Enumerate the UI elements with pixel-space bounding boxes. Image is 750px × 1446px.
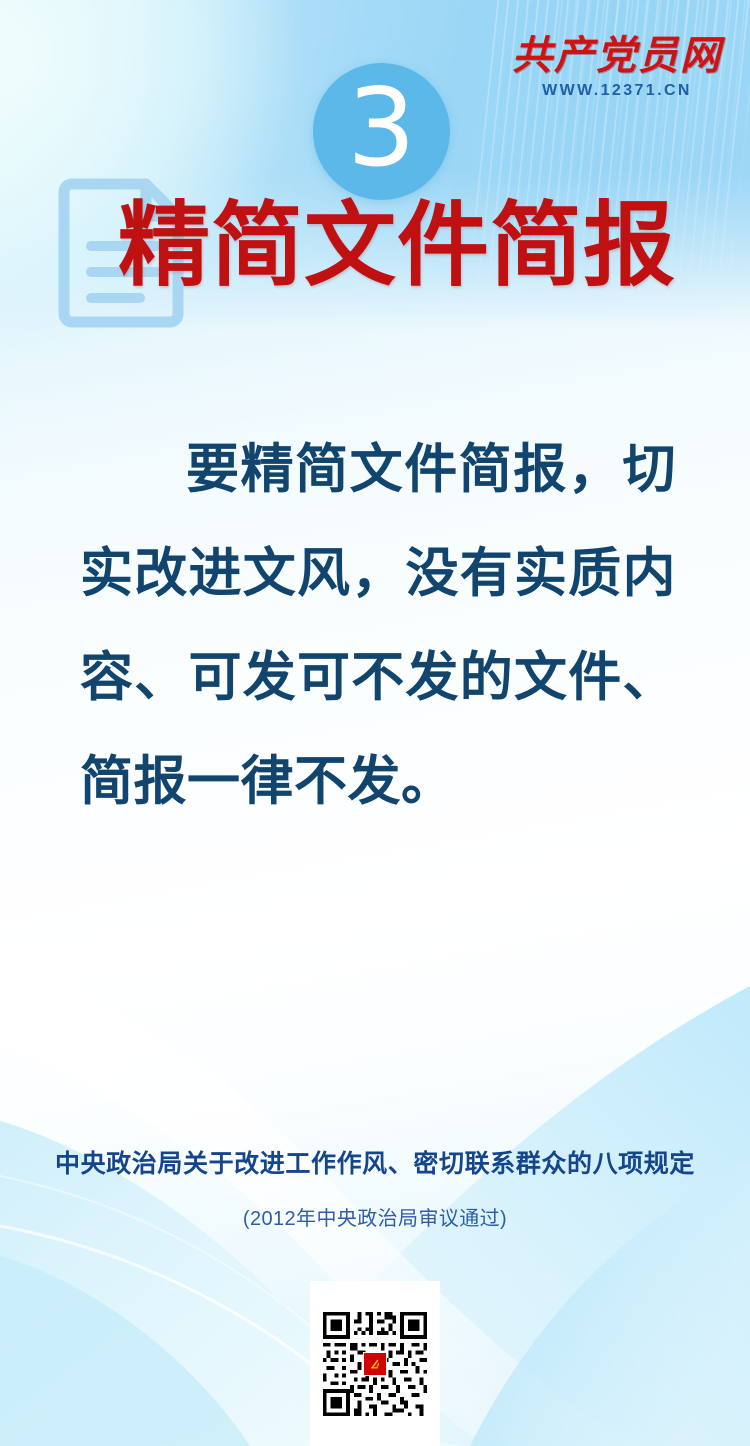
footer-subtitle: (2012年中央政治局审议通过): [0, 1202, 750, 1231]
footer: 中央政治局关于改进工作作风、密切联系群众的八项规定 (2012年中央政治局审议通…: [0, 1150, 750, 1231]
qr-code[interactable]: [310, 1281, 440, 1446]
page-title: 精简文件简报: [118, 196, 676, 297]
party-emblem-icon: [363, 1352, 387, 1376]
body-paragraph: 要精简文件简报，切实改进文风，没有实质内容、可发可不发的文件、简报一律不发。: [80, 418, 676, 834]
number-badge: 3: [313, 63, 450, 200]
site-logo-url: WWW.12371.CN: [508, 83, 726, 99]
site-logo[interactable]: 共产党员网 WWW.12371.CN: [508, 36, 726, 99]
number-badge-value: 3: [347, 75, 416, 183]
site-logo-name: 共产党员网: [508, 36, 726, 76]
poster-root: 共产党员网 WWW.12371.CN 3 精简文件简报 要精简文件简报，切实改进…: [0, 0, 750, 1446]
footer-title: 中央政治局关于改进工作作风、密切联系群众的八项规定: [0, 1150, 750, 1180]
